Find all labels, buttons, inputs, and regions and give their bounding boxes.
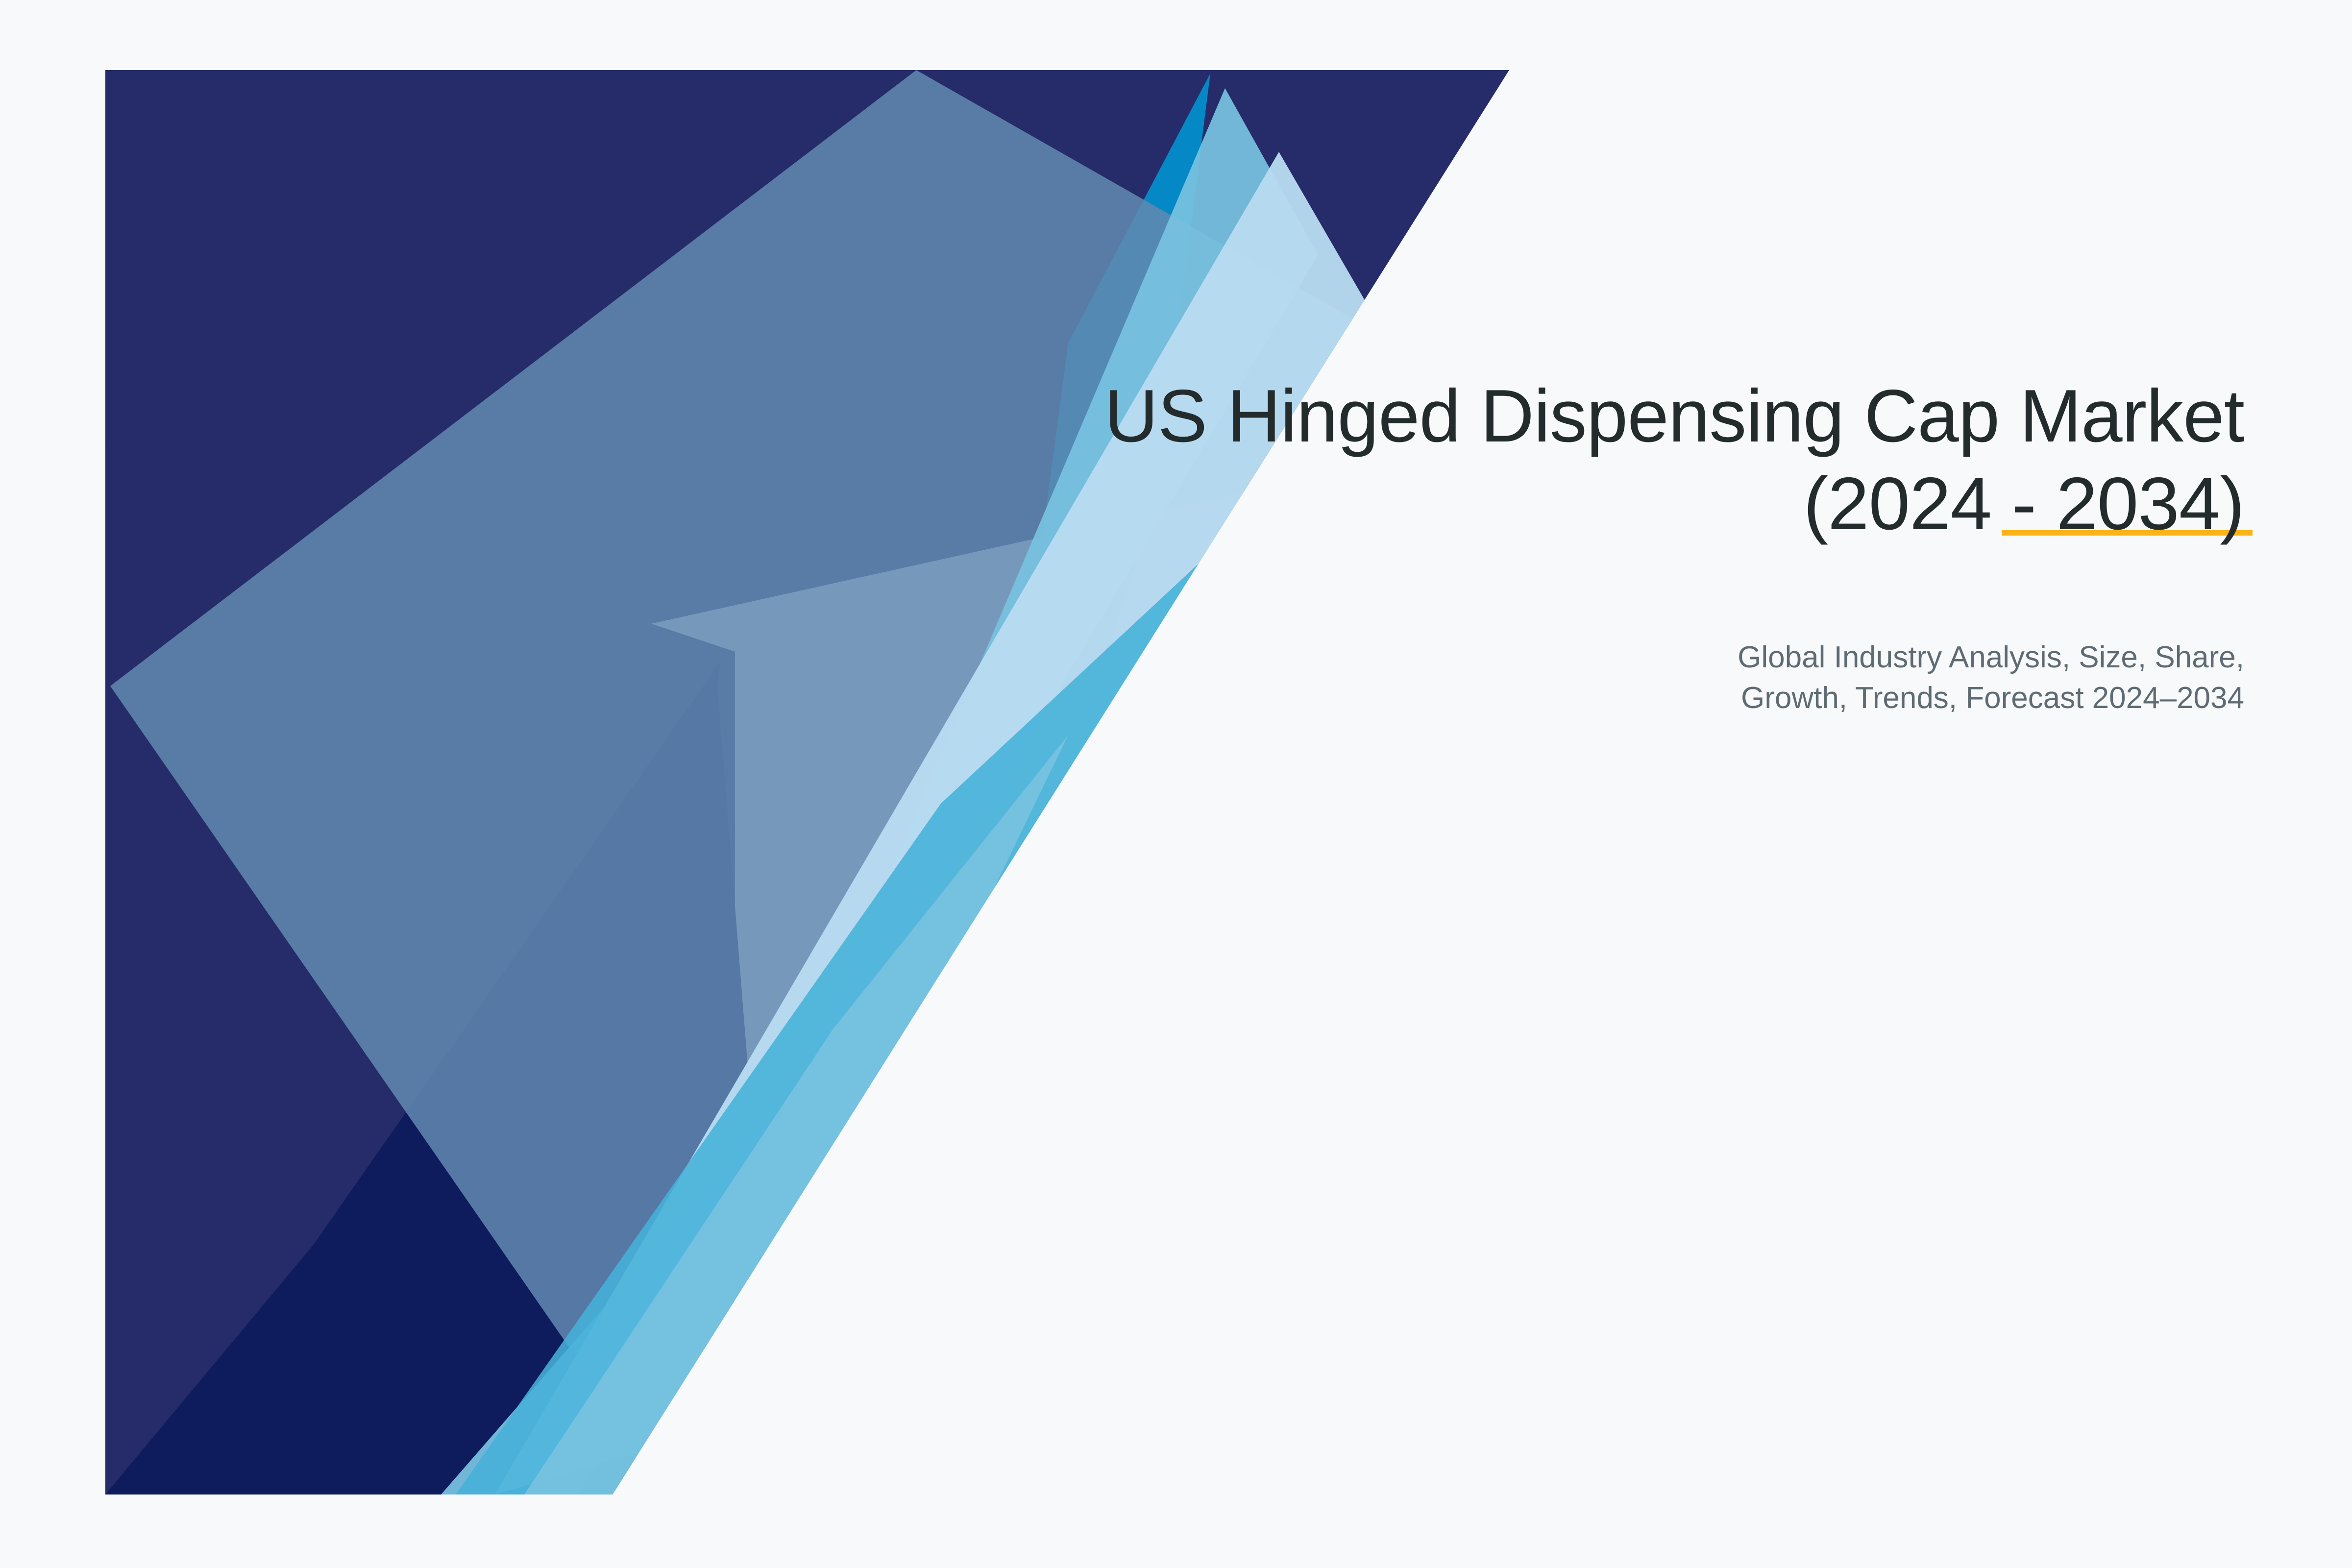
- report-cover-page: US Hinged Dispensing Cap Market (2024 - …: [0, 0, 2352, 1568]
- shape-cyan-ray: [970, 73, 1210, 1078]
- shape-sky-blue-inner-v: [524, 735, 1068, 1494]
- cover-artwork-svg: [0, 0, 2352, 1568]
- shape-deep-navy-lower: [105, 661, 720, 1494]
- abstract-geometric-cover-graphic: [0, 0, 2352, 1568]
- shape-slate-blue-sheet: [110, 70, 1387, 1494]
- shape-bright-blue-field: [105, 70, 921, 755]
- shape-pale-blue-band: [495, 152, 1387, 1494]
- shape-cyan-lower-band: [456, 539, 1225, 1494]
- page-subtitle: Global Industry Analysis, Size, Share, G…: [1421, 637, 2244, 718]
- shape-deep-navy-spike: [603, 661, 764, 1494]
- cover-title-block: US Hinged Dispensing Cap Market (2024 - …: [931, 372, 2244, 548]
- cover-subtitle-block: Global Industry Analysis, Size, Share, G…: [1421, 637, 2244, 718]
- shape-sky-blue-band: [441, 88, 1318, 1494]
- page-title: US Hinged Dispensing Cap Market (2024 - …: [931, 372, 2244, 548]
- shape-mid-navy-left-column: [105, 441, 735, 1494]
